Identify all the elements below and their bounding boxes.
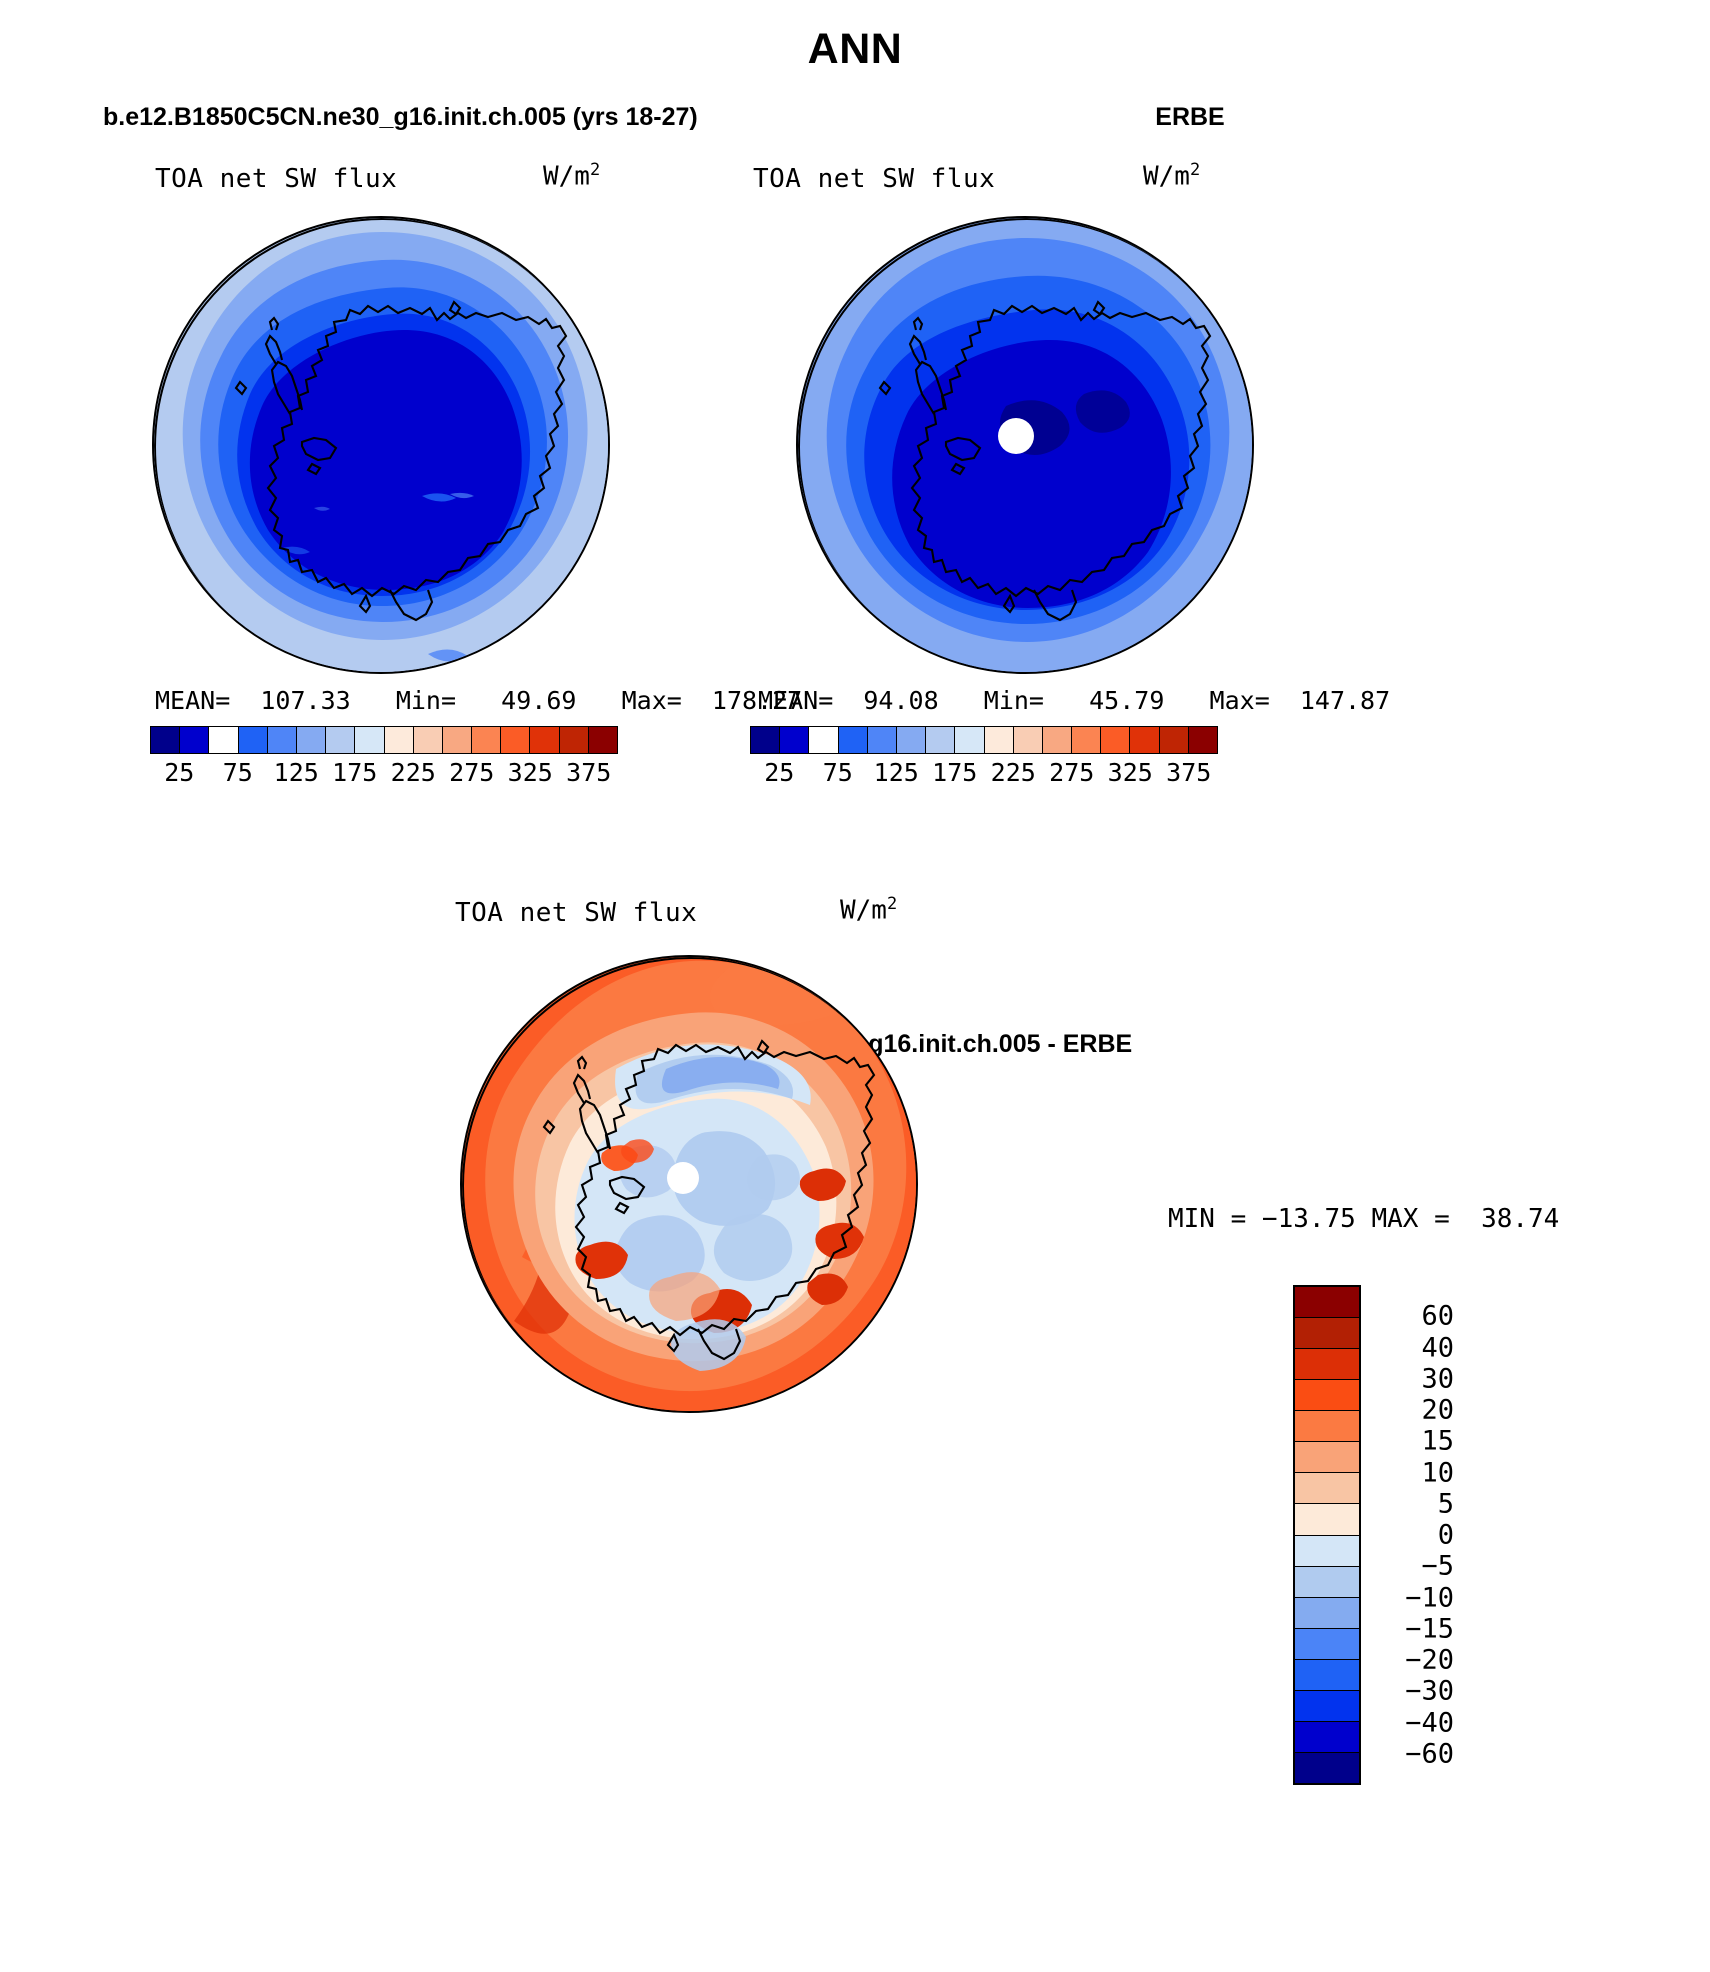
colorbar-diff-box-3 xyxy=(1295,1380,1359,1411)
colorbar-right-tick-75: 75 xyxy=(823,758,853,787)
polar-map-diff xyxy=(460,955,918,1413)
colorbar-diff-box-0 xyxy=(1295,1287,1359,1318)
colorbar-diff-tick-15: 15 xyxy=(1374,1426,1454,1457)
pole-hole-diff xyxy=(667,1162,699,1194)
colorbar-left-box-6 xyxy=(326,727,355,753)
colorbar-right-box-10 xyxy=(1043,727,1072,753)
colorbar-diff-tick-30: 30 xyxy=(1374,1363,1454,1394)
colorbar-diff-box-1 xyxy=(1295,1318,1359,1349)
colorbar-left xyxy=(150,726,618,754)
case-title-left: b.e12.B1850C5CN.ne30_g16.init.ch.005 (yr… xyxy=(103,103,698,132)
colorbar-right-tick-175: 175 xyxy=(932,758,977,787)
colorbar-left-tick-325: 325 xyxy=(508,758,553,787)
colorbar-right-box-0 xyxy=(751,727,780,753)
polar-map-right xyxy=(796,216,1254,674)
colorbar-right-box-15 xyxy=(1189,727,1217,753)
colorbar-right-box-6 xyxy=(926,727,955,753)
colorbar-left-tick-275: 275 xyxy=(449,758,494,787)
colorbar-diff-tick--5: −5 xyxy=(1374,1551,1454,1582)
colorbar-left-tick-25: 25 xyxy=(164,758,194,787)
units-label-diff: W/m2 xyxy=(840,894,897,926)
colorbar-right-tick-225: 225 xyxy=(991,758,1036,787)
colorbar-right-tick-25: 25 xyxy=(764,758,794,787)
colorbar-left-box-10 xyxy=(443,727,472,753)
colorbar-left-box-13 xyxy=(530,727,559,753)
colorbar-right-box-11 xyxy=(1072,727,1101,753)
colorbar-diff-tick-40: 40 xyxy=(1374,1332,1454,1363)
case-title-right: ERBE xyxy=(1155,103,1224,132)
colorbar-diff-box-12 xyxy=(1295,1660,1359,1691)
colorbar-diff-box-8 xyxy=(1295,1536,1359,1567)
units-label-right: W/m2 xyxy=(1143,160,1200,192)
colorbar-left-box-15 xyxy=(589,727,617,753)
colorbar-diff-box-14 xyxy=(1295,1722,1359,1753)
colorbar-diff-tick-20: 20 xyxy=(1374,1395,1454,1426)
colorbar-diff xyxy=(1293,1285,1361,1785)
pole-hole-right xyxy=(998,418,1034,454)
colorbar-right-tick-275: 275 xyxy=(1049,758,1094,787)
var-label-left: TOA net SW flux xyxy=(155,164,397,194)
var-label-diff: TOA net SW flux xyxy=(455,898,697,928)
colorbar-diff-box-11 xyxy=(1295,1629,1359,1660)
colorbar-right-box-3 xyxy=(839,727,868,753)
colorbar-right-box-9 xyxy=(1014,727,1043,753)
colorbar-diff-box-9 xyxy=(1295,1567,1359,1598)
colorbar-left-tick-75: 75 xyxy=(223,758,253,787)
colorbar-left-box-11 xyxy=(472,727,501,753)
colorbar-diff-tick--40: −40 xyxy=(1374,1707,1454,1738)
colorbar-diff-box-5 xyxy=(1295,1442,1359,1473)
stats-right: MEAN= 94.08 Min= 45.79 Max= 147.87 xyxy=(758,686,1390,715)
colorbar-right-box-7 xyxy=(955,727,984,753)
colorbar-right-box-1 xyxy=(780,727,809,753)
colorbar-right-box-14 xyxy=(1160,727,1189,753)
colorbar-diff-tick-10: 10 xyxy=(1374,1457,1454,1488)
colorbar-diff-tick--15: −15 xyxy=(1374,1613,1454,1644)
colorbar-diff-tick-60: 60 xyxy=(1374,1301,1454,1332)
colorbar-right-tick-125: 125 xyxy=(874,758,919,787)
var-label-right: TOA net SW flux xyxy=(753,164,995,194)
colorbar-left-tick-125: 125 xyxy=(274,758,319,787)
polar-map-left xyxy=(152,216,610,674)
colorbar-right-box-13 xyxy=(1130,727,1159,753)
page-title: ANN xyxy=(0,25,1710,74)
colorbar-diff-tick-0: 0 xyxy=(1374,1520,1454,1551)
colorbar-left-box-7 xyxy=(355,727,384,753)
colorbar-left-box-12 xyxy=(501,727,530,753)
colorbar-right-box-5 xyxy=(897,727,926,753)
colorbar-right-box-4 xyxy=(868,727,897,753)
colorbar-diff-box-10 xyxy=(1295,1598,1359,1629)
colorbar-left-box-2 xyxy=(209,727,238,753)
colorbar-left-tick-225: 225 xyxy=(391,758,436,787)
colorbar-left-box-4 xyxy=(268,727,297,753)
diff-minmax-annotation: MIN = −13.75 MAX = 38.74 xyxy=(1168,1204,1559,1234)
colorbar-diff-box-13 xyxy=(1295,1691,1359,1722)
contour-fills-left xyxy=(154,218,610,674)
colorbar-left-box-9 xyxy=(414,727,443,753)
colorbar-left-box-1 xyxy=(180,727,209,753)
colorbar-left-box-3 xyxy=(239,727,268,753)
colorbar-diff-labels: 60403020151050−5−10−15−20−30−40−60 xyxy=(1374,1285,1464,1785)
colorbar-diff-box-15 xyxy=(1295,1753,1359,1783)
colorbar-diff-box-4 xyxy=(1295,1411,1359,1442)
colorbar-diff-tick-5: 5 xyxy=(1374,1488,1454,1519)
colorbar-diff-tick--20: −20 xyxy=(1374,1645,1454,1676)
stats-left: MEAN= 107.33 Min= 49.69 Max= 178.27 xyxy=(155,686,802,715)
colorbar-right-labels: 2575125175225275325375 xyxy=(750,758,1218,790)
colorbar-diff-tick--30: −30 xyxy=(1374,1676,1454,1707)
colorbar-right-tick-325: 325 xyxy=(1108,758,1153,787)
colorbar-left-labels: 2575125175225275325375 xyxy=(150,758,618,790)
colorbar-left-box-14 xyxy=(560,727,589,753)
colorbar-right-box-12 xyxy=(1101,727,1130,753)
colorbar-diff-box-7 xyxy=(1295,1504,1359,1535)
colorbar-right xyxy=(750,726,1218,754)
colorbar-right-box-2 xyxy=(809,727,838,753)
colorbar-right-box-8 xyxy=(985,727,1014,753)
colorbar-diff-box-2 xyxy=(1295,1349,1359,1380)
colorbar-diff-tick--10: −10 xyxy=(1374,1582,1454,1613)
colorbar-left-box-8 xyxy=(385,727,414,753)
colorbar-left-box-5 xyxy=(297,727,326,753)
colorbar-diff-box-6 xyxy=(1295,1473,1359,1504)
colorbar-diff-tick--60: −60 xyxy=(1374,1738,1454,1769)
colorbar-left-tick-175: 175 xyxy=(332,758,377,787)
colorbar-left-box-0 xyxy=(151,727,180,753)
colorbar-right-tick-375: 375 xyxy=(1166,758,1211,787)
colorbar-left-tick-375: 375 xyxy=(566,758,611,787)
units-label-left: W/m2 xyxy=(543,160,600,192)
